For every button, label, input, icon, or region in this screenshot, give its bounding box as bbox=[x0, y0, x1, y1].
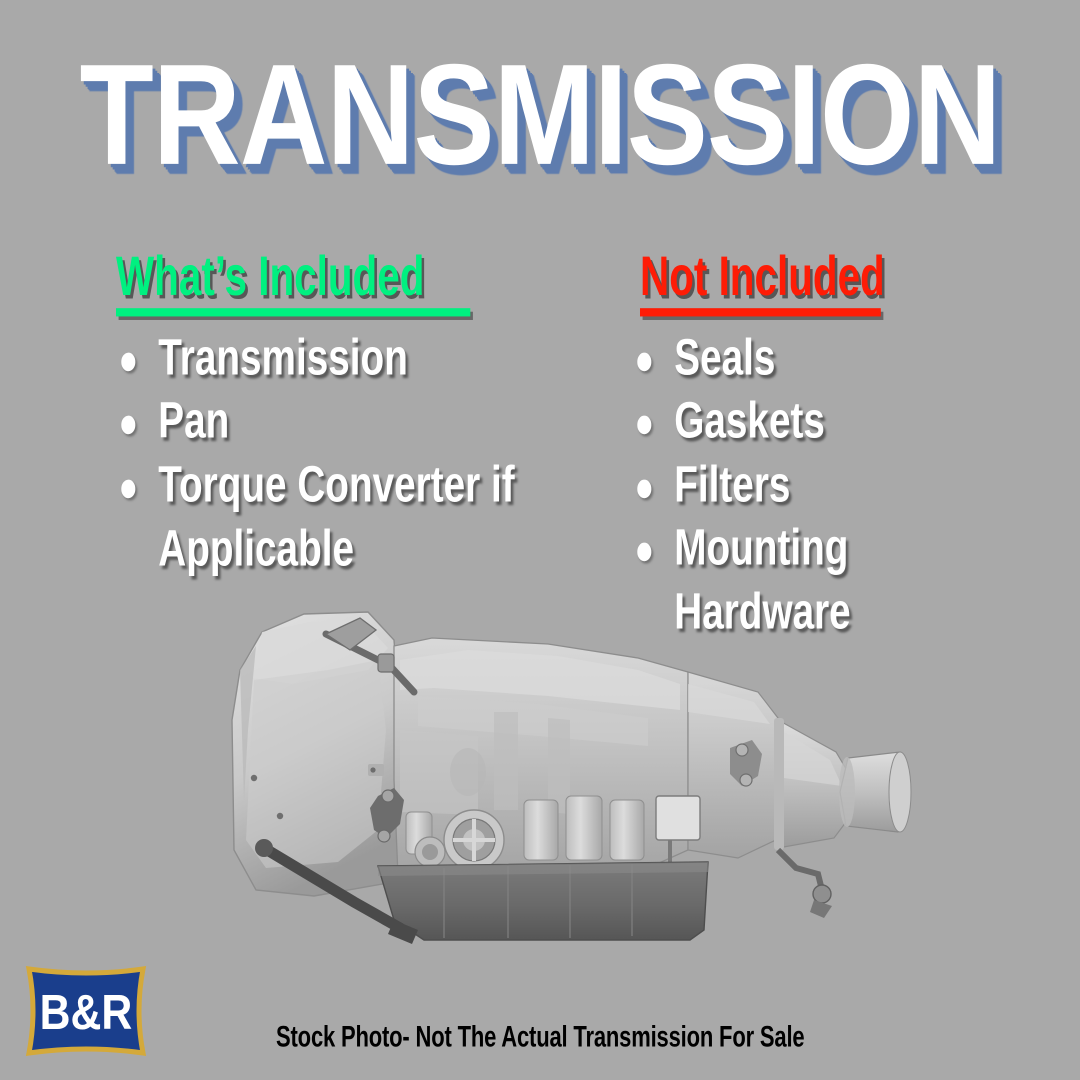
list-item: Seals bbox=[632, 326, 896, 390]
footer-disclaimer-label: Stock Photo- Not The Actual Transmission… bbox=[276, 1020, 804, 1055]
list-item: Filters bbox=[632, 453, 896, 517]
heading-whats-included-label: What’s Included bbox=[116, 244, 424, 307]
excluded-items-list: Seals Gaskets Filters Mounting Hardware bbox=[632, 326, 932, 635]
heading-underline-red bbox=[640, 308, 881, 316]
heading-not-included: Not Included bbox=[640, 248, 885, 316]
heading-underline-green bbox=[116, 308, 470, 316]
list-item: Transmission bbox=[116, 326, 530, 390]
footer-disclaimer: Stock Photo- Not The Actual Transmission… bbox=[0, 1023, 1080, 1052]
page-title: TRANSMISSION bbox=[27, 44, 1053, 187]
transmission-photo bbox=[218, 600, 924, 945]
heading-not-included-label: Not Included bbox=[640, 244, 885, 307]
heading-whats-included: What’s Included bbox=[116, 248, 470, 316]
list-item: Torque Converter if Applicable bbox=[116, 453, 530, 582]
included-items-list: Transmission Pan Torque Converter if App… bbox=[116, 326, 586, 572]
list-item: Gaskets bbox=[632, 389, 896, 453]
list-item: Pan bbox=[116, 389, 530, 453]
product-poster: TRANSMISSION What’s Included Not Include… bbox=[0, 0, 1080, 1080]
